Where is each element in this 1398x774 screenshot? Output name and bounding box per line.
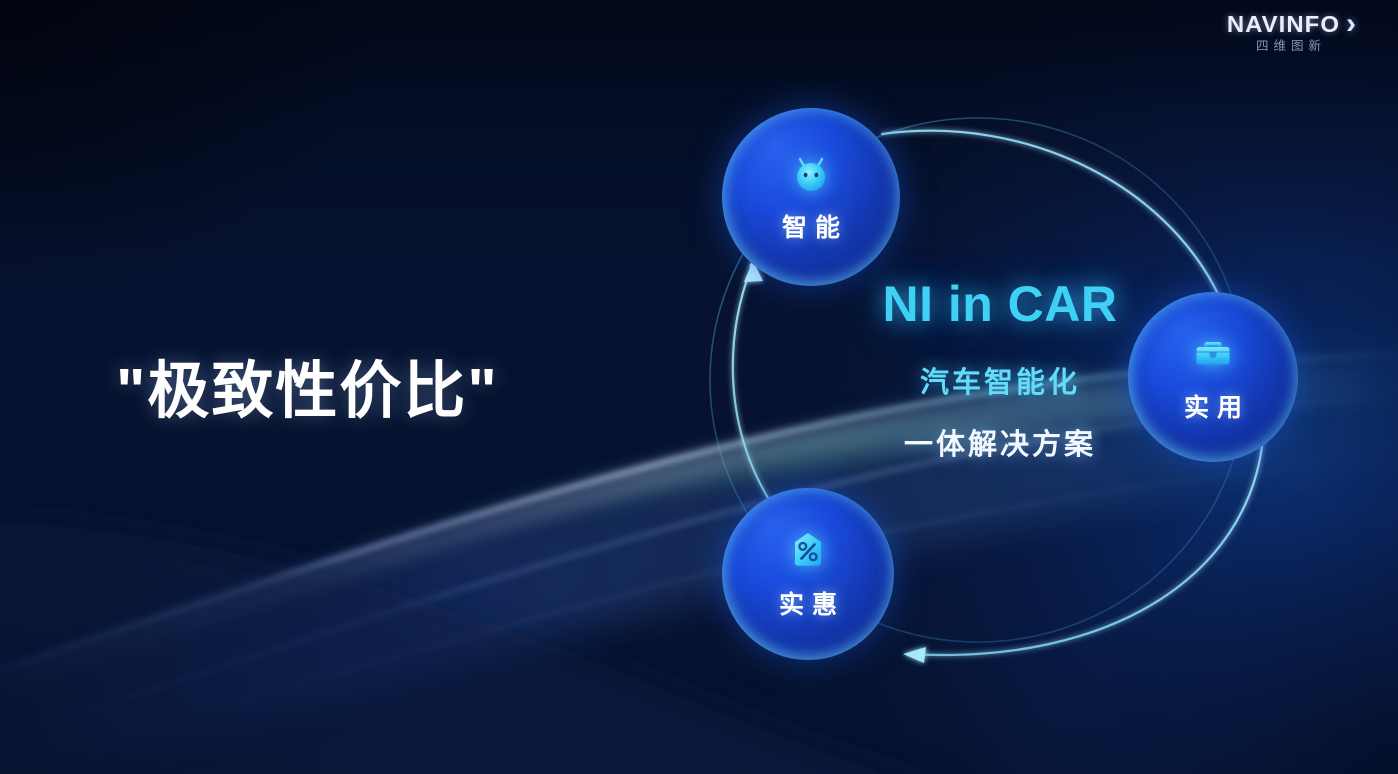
node-value[interactable]: 实惠 bbox=[722, 488, 894, 660]
slide-canvas: NAVINFO › 四维图新 "极致性价比" bbox=[0, 0, 1398, 774]
center-title: NI in CAR bbox=[835, 275, 1165, 333]
chevron-right-icon: › bbox=[1346, 12, 1356, 36]
connector-value-to-smart bbox=[733, 261, 768, 498]
logo-wordmark-row: NAVINFO › bbox=[1229, 12, 1356, 36]
cycle-diagram: 智能 实用 bbox=[660, 70, 1360, 730]
node-smart-label: 智能 bbox=[774, 208, 848, 244]
node-value-label: 实惠 bbox=[771, 585, 845, 621]
navinfo-logo: NAVINFO › 四维图新 bbox=[1229, 12, 1356, 53]
robot-head-icon bbox=[788, 150, 834, 196]
logo-chinese-name: 四维图新 bbox=[1256, 40, 1326, 53]
node-smart[interactable]: 智能 bbox=[722, 108, 900, 286]
discount-tag-icon bbox=[785, 527, 831, 573]
briefcase-icon bbox=[1190, 330, 1236, 376]
center-subtitle-2: 一体解决方案 bbox=[835, 421, 1165, 463]
headline-text: "极致性价比" bbox=[116, 340, 499, 430]
center-subtitle-1: 汽车智能化 bbox=[835, 359, 1165, 401]
center-text-block: NI in CAR 汽车智能化 一体解决方案 bbox=[835, 275, 1165, 463]
node-useful-label: 实用 bbox=[1176, 388, 1250, 424]
logo-wordmark: NAVINFO bbox=[1227, 13, 1340, 36]
